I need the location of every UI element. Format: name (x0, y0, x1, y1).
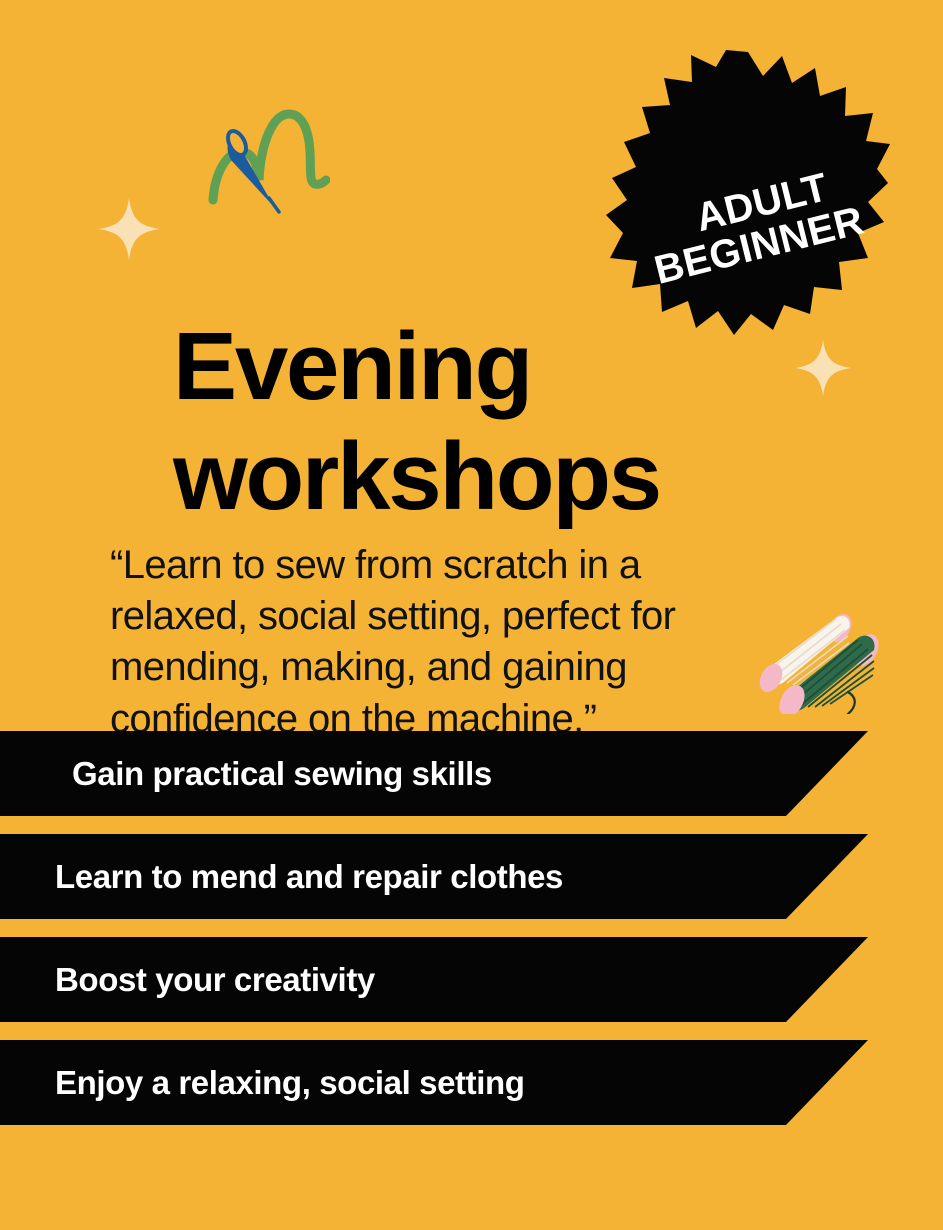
benefit-banner-2: Learn to mend and repair clothes (0, 834, 943, 919)
adult-beginner-badge: ADULT BEGINNER (606, 50, 890, 352)
benefit-banner-4: Enjoy a relaxing, social setting (0, 1040, 943, 1125)
benefit-label-2: Learn to mend and repair clothes (55, 834, 563, 919)
benefits-list: Gain practical sewing skills Learn to me… (0, 731, 943, 1143)
poster-canvas: ADULT BEGINNER Evening workshops “Learn … (0, 0, 943, 1230)
quote-text: “Learn to sew from scratch in a relaxed,… (110, 540, 780, 745)
thread-spools-illustration (744, 604, 889, 714)
page-title-line-2: workshops (173, 422, 793, 531)
benefit-banner-1: Gain practical sewing skills (0, 731, 943, 816)
needle-and-thread-logo (205, 100, 330, 215)
benefit-banner-3: Boost your creativity (0, 937, 943, 1022)
page-title: Evening workshops (173, 312, 793, 531)
sparkle-star-left (98, 198, 160, 260)
benefit-label-4: Enjoy a relaxing, social setting (55, 1040, 525, 1125)
benefit-label-1: Gain practical sewing skills (72, 731, 492, 816)
benefit-label-3: Boost your creativity (55, 937, 375, 1022)
page-title-line-1: Evening (173, 312, 793, 421)
